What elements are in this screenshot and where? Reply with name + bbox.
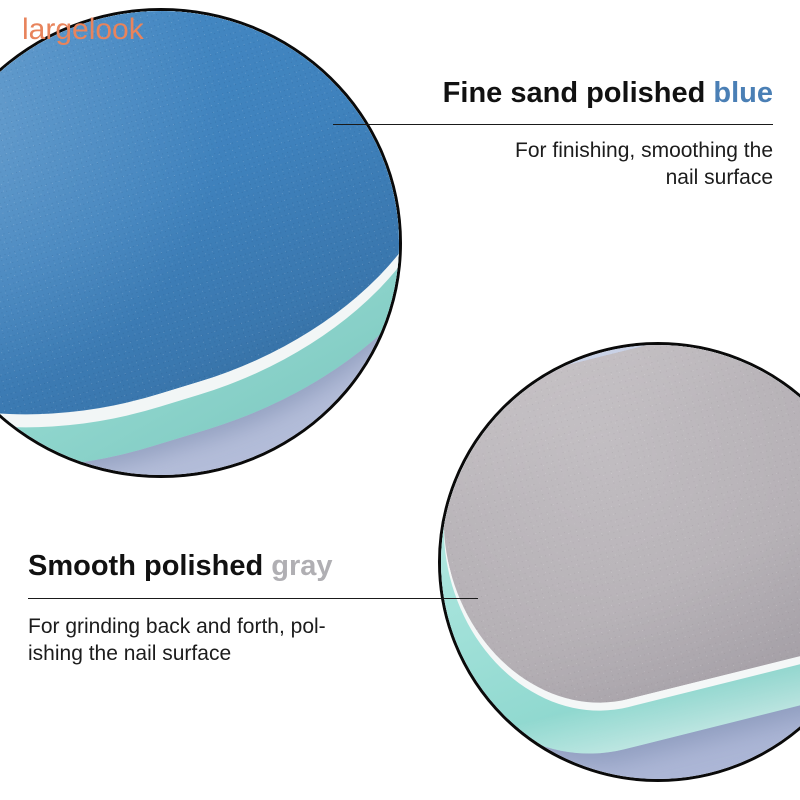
watermark-largelook: largelook: [22, 13, 144, 47]
callout-gray-description-line2: ishing the nail surface: [28, 640, 478, 667]
callout-gray-divider: [28, 598, 478, 599]
callout-blue: Fine sand polished blue For finishing, s…: [333, 78, 773, 191]
callout-blue-description-line1: For finishing, smoothing the: [333, 137, 773, 164]
photo-inner-gray: [441, 345, 800, 779]
callout-gray-description: For grinding back and forth, pol- ishing…: [28, 613, 478, 668]
photo-circle-gray-file: [438, 342, 800, 782]
callout-blue-headline-accent: blue: [713, 77, 773, 109]
callout-blue-headline-main: Fine sand polished: [443, 77, 714, 109]
callout-blue-description: For finishing, smoothing the nail surfac…: [333, 137, 773, 192]
callout-blue-divider: [333, 124, 773, 125]
product-infographic: largelook Fine sand polished blue For fi…: [0, 0, 800, 800]
callout-blue-description-line2: nail surface: [333, 164, 773, 191]
callout-gray-description-line1: For grinding back and forth, pol-: [28, 613, 478, 640]
callout-gray-headline-main: Smooth polished: [28, 550, 271, 582]
callout-blue-headline: Fine sand polished blue: [333, 78, 773, 110]
callout-gray-headline: Smooth polished gray: [28, 551, 478, 583]
callout-gray-headline-accent: gray: [271, 550, 332, 582]
callout-gray: Smooth polished gray For grinding back a…: [28, 551, 478, 667]
